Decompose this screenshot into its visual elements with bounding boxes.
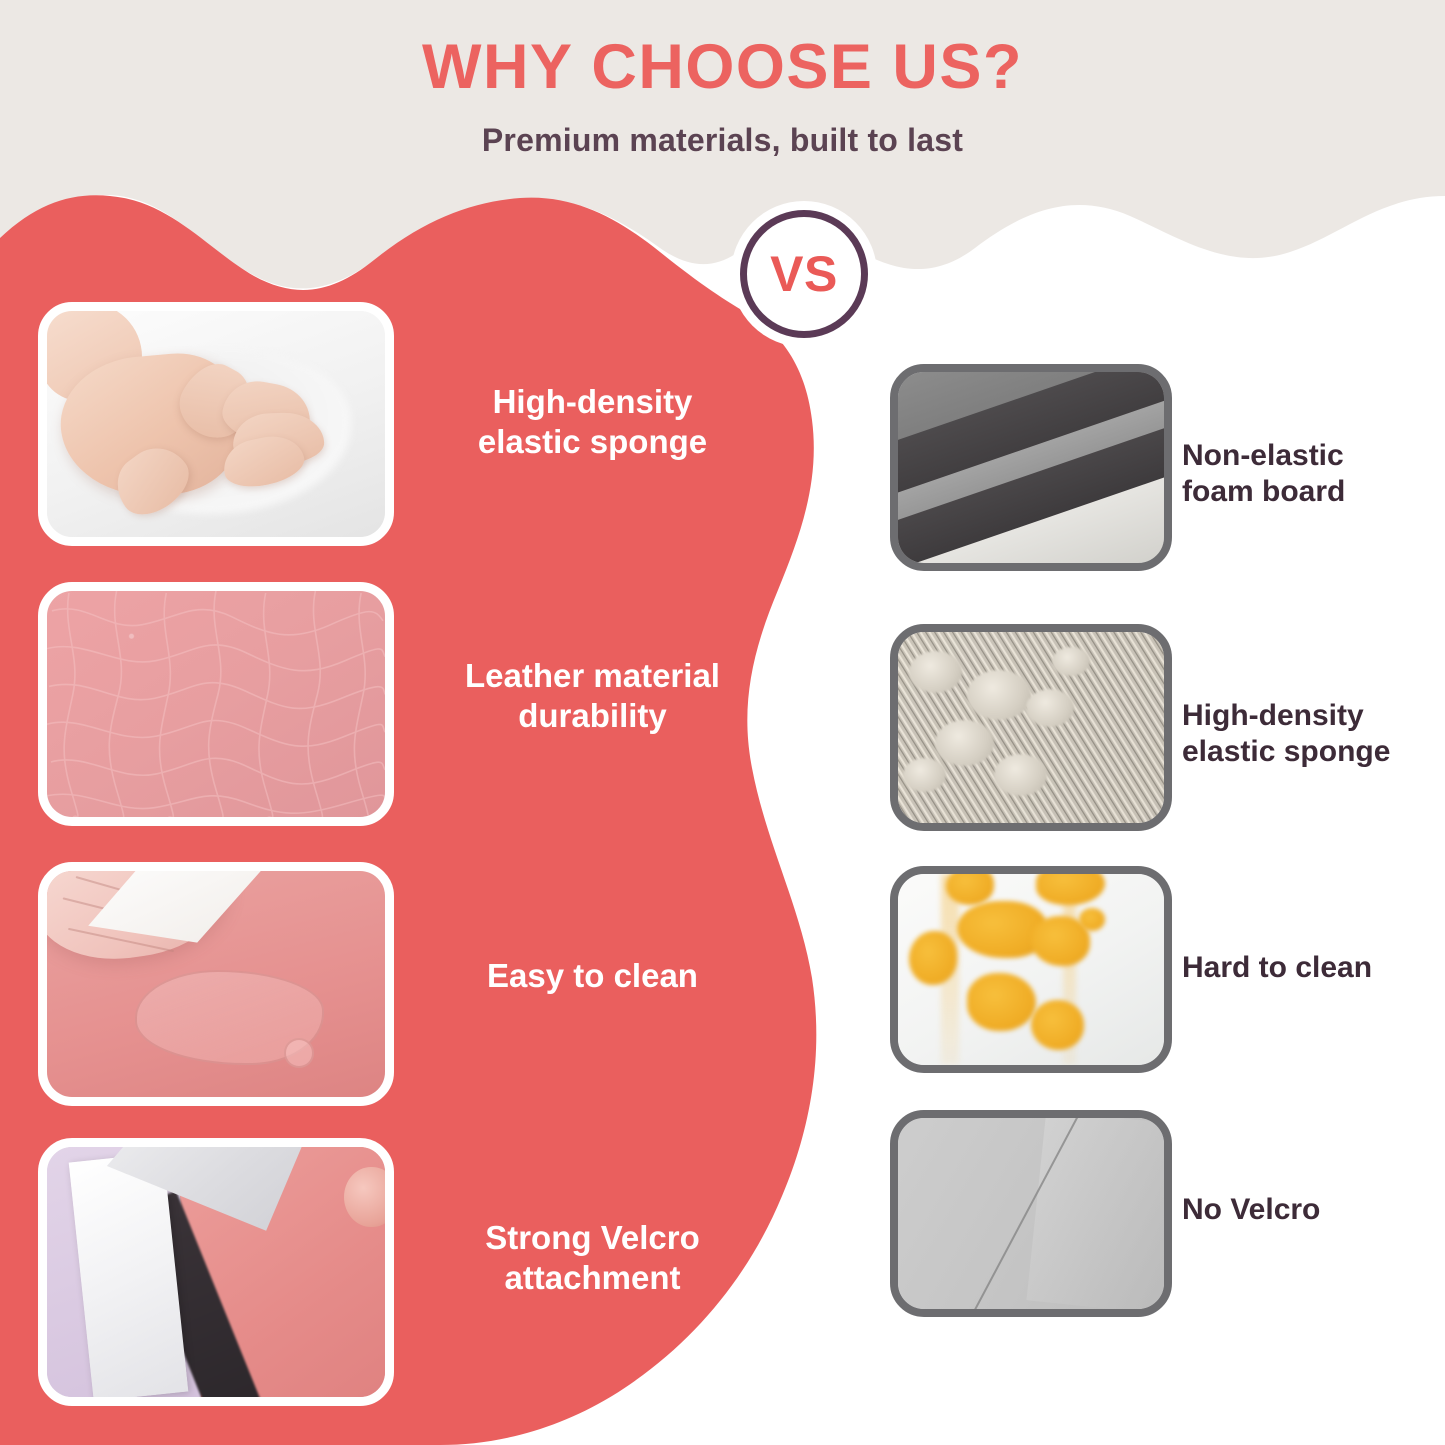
wiping-spill-image — [47, 871, 385, 1097]
pro-label-high-density-sponge: High-densityelastic sponge — [420, 382, 765, 461]
vs-badge: VS — [740, 210, 868, 338]
pro-label-easy-to-clean: Easy to clean — [420, 956, 765, 996]
pro-thumbnail-strong-velcro — [38, 1138, 394, 1406]
pro-thumbnail-easy-to-clean — [38, 862, 394, 1106]
con-label-no-velcro: No Velcro — [1182, 1192, 1438, 1228]
con-thumbnail-non-elastic-foam-board — [890, 364, 1172, 571]
pro-label-strong-velcro: Strong Velcroattachment — [420, 1218, 765, 1297]
comparison-row: Leather materialdurability — [0, 576, 1445, 838]
pro-thumbnail-leather-material — [38, 582, 394, 826]
comparison-row: High-densityelastic sponge Non-elasticfo… — [0, 296, 1445, 558]
dark-foam-board-image — [898, 372, 1164, 563]
comparison-row: Easy to clean Hard to clean — [0, 856, 1445, 1118]
con-label-hard-to-clean: Hard to clean — [1182, 950, 1438, 986]
con-thumbnail-worn-fabric — [890, 624, 1172, 831]
con-thumbnail-hard-to-clean — [890, 866, 1172, 1073]
comparison-rows: High-densityelastic sponge Non-elasticfo… — [0, 0, 1445, 1445]
plain-gray-panel-image — [898, 1118, 1164, 1309]
baby-hand-on-foam-image — [47, 311, 385, 537]
pink-leather-texture-image — [47, 591, 385, 817]
vs-badge-label: VS — [770, 245, 838, 303]
pro-thumbnail-high-density-sponge — [38, 302, 394, 546]
yellow-stains-image — [898, 874, 1164, 1065]
pro-label-leather-material: Leather materialdurability — [420, 656, 765, 735]
con-thumbnail-no-velcro — [890, 1110, 1172, 1317]
velcro-attachment-image — [47, 1147, 385, 1397]
con-label-high-density-elastic-sponge: High-densityelastic sponge — [1182, 698, 1438, 770]
worn-pilled-fabric-image — [898, 632, 1164, 823]
why-choose-us-infographic: WHY CHOOSE US? Premium materials, built … — [0, 0, 1445, 1445]
comparison-row: Strong Velcroattachment No Velcro — [0, 1132, 1445, 1394]
con-label-non-elastic-foam-board: Non-elasticfoam board — [1182, 438, 1438, 510]
